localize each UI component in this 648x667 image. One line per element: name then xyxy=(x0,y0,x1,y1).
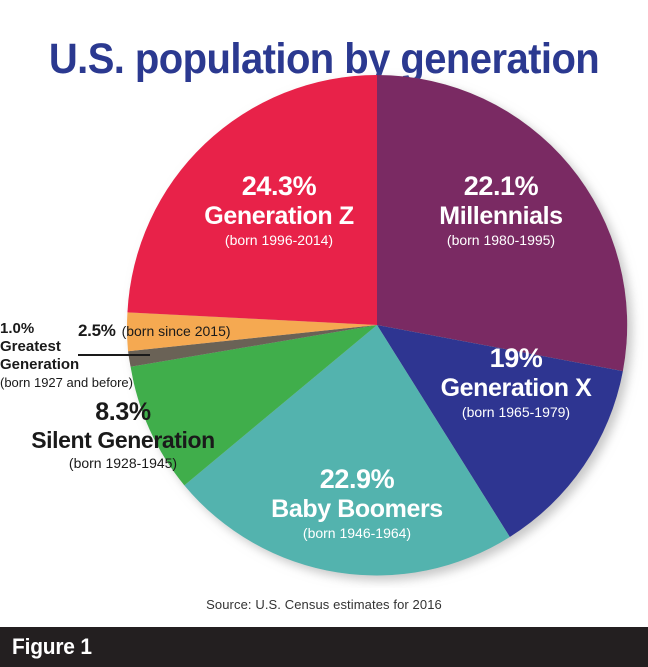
greatest-generation-percent: 1.0% xyxy=(0,320,150,338)
figure-label: Figure 1 xyxy=(12,634,92,660)
greatest-generation-born: (born 1927 and before) xyxy=(0,374,150,391)
pie-slice-millennials[interactable] xyxy=(377,75,627,371)
silent-generation-percent: 8.3% xyxy=(10,398,236,427)
slice-label-silent-generation: 8.3% Silent Generation (born 1928-1945) xyxy=(10,398,236,472)
footer-divider xyxy=(0,619,648,621)
figure-bar: Figure 1 xyxy=(0,627,648,667)
silent-generation-name: Silent Generation xyxy=(10,427,236,454)
pie-slice-generation-z[interactable] xyxy=(127,75,377,325)
pie-chart: 24.3% Generation Z (born 1996-2014) 22.1… xyxy=(0,58,648,588)
greatest-generation-name-line2: Generation xyxy=(0,356,150,374)
silent-generation-born: (born 1928-1945) xyxy=(10,454,236,472)
figure-page: U.S. population by generation xyxy=(0,0,648,667)
greatest-generation-leader-line xyxy=(78,354,150,356)
source-note: Source: U.S. Census estimates for 2016 xyxy=(0,596,648,613)
